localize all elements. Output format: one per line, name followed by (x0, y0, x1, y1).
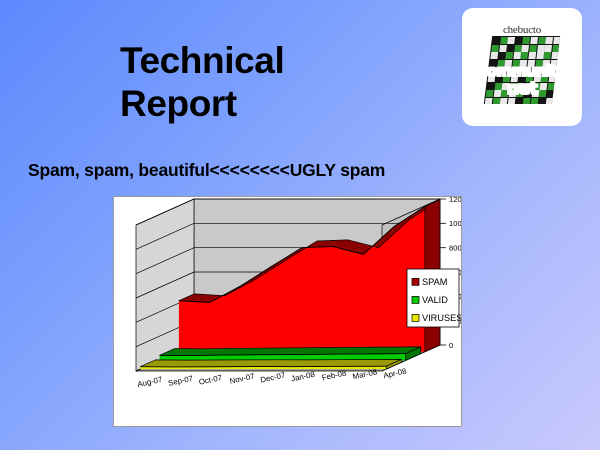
chart-legend-label-spam: SPAM (422, 277, 447, 287)
chart-series-top-viruses (140, 359, 401, 367)
logo-tile (515, 98, 523, 104)
logo-tile (546, 90, 554, 97)
logo-tile (551, 52, 559, 59)
chart-x-tick-label: Jan-08 (290, 370, 315, 384)
email-volume-area-chart: 020000040000060000080000010000001200000A… (114, 197, 461, 426)
logo-tile (492, 98, 500, 104)
chart-y-tick-label: 0 (449, 341, 453, 350)
logo-tile (538, 98, 546, 104)
logo-tile (553, 37, 560, 44)
logo-tile (550, 60, 558, 67)
chart-x-tick-label: Oct-07 (198, 373, 223, 387)
chart-y-tick-label: 800000 (449, 244, 461, 253)
logo-artwork: chebucto community net (476, 24, 568, 110)
chart-legend-swatch-viruses (412, 314, 419, 321)
chart-x-tick-label: Sep-07 (167, 374, 193, 388)
chart-x-tick-label: Dec-07 (260, 371, 286, 385)
logo-checker-grid-icon (484, 36, 560, 104)
logo-text-chebucto: chebucto (476, 24, 568, 36)
presentation-slide: Technical Report chebucto community net … (0, 0, 600, 450)
logo-tile (546, 98, 554, 104)
logo-tile (530, 98, 538, 104)
logo-tile (500, 98, 508, 104)
chart-panel: Email August 2007 to April 2008 02000004… (113, 196, 462, 427)
slide-body-heading: Spam, spam, beautiful<<<<<<<<UGLY spam (28, 160, 385, 181)
logo-tile (549, 67, 557, 74)
page-title-line-1: Technical (120, 40, 284, 81)
chart-legend-label-valid: VALID (422, 295, 448, 305)
chart-legend-label-viruses: VIRUSES (422, 313, 461, 323)
page-title: Technical Report (120, 39, 450, 126)
logo-tile (548, 75, 556, 82)
page-title-line-2: Report (120, 82, 450, 126)
chart-x-tick-label: Nov-07 (229, 372, 255, 386)
chart-y-tick-label: 1000000 (449, 219, 461, 228)
logo-tile (547, 83, 555, 90)
logo-tile (508, 98, 516, 104)
logo-tile (523, 98, 531, 104)
chart-legend-swatch-spam (412, 278, 419, 285)
chart-y-tick-label: 1200000 (449, 197, 461, 204)
chart-x-tick-label: Aug-07 (137, 375, 163, 389)
chart-legend-swatch-valid (412, 296, 419, 303)
chebucto-community-net-logo: chebucto community net (462, 8, 582, 126)
logo-tile (552, 45, 560, 52)
logo-tile (485, 98, 493, 104)
